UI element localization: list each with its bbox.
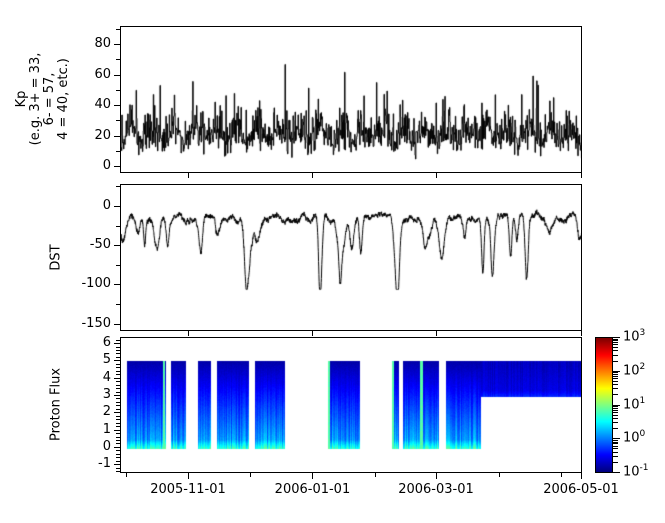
colorbar-tick-minor (613, 442, 618, 443)
colorbar-tick-minor (613, 418, 618, 419)
colorbar-tick-minor (613, 378, 618, 379)
ytick-minor (116, 388, 121, 389)
ytick-major (114, 343, 121, 344)
ytick-major (114, 360, 121, 361)
ytick-minor (116, 426, 121, 427)
ytick-minor (116, 392, 121, 393)
ytick-minor (116, 471, 121, 472)
colorbar-tick-minor (613, 428, 618, 429)
xtick-major (188, 172, 189, 178)
ytick-minor (116, 405, 121, 406)
jet-log-colorbar (595, 337, 613, 473)
ytick-minor (116, 416, 121, 417)
ytick-major (114, 284, 121, 285)
colorbar-tick-minor (613, 452, 618, 453)
xtick-minor (126, 472, 127, 477)
ytick-minor (116, 443, 121, 444)
ytick-minor (116, 450, 121, 451)
proton-flux-spectrogram-canvas (121, 338, 582, 473)
xtick-major (581, 472, 582, 479)
ytick-minor (116, 381, 121, 382)
xtick-major (188, 472, 189, 479)
colorbar-tick-minor (613, 443, 618, 444)
colorbar-tick-minor (613, 347, 618, 348)
colorbar-tick-minor (613, 410, 618, 411)
colorbar-tick-minor (613, 422, 618, 423)
colorbar-exponent: 0 (640, 429, 646, 439)
colorbar-tick-label: 100 (623, 429, 645, 445)
xtick-major (312, 330, 313, 336)
xtick-major (436, 472, 437, 479)
xtick-label: 2006-03-01 (376, 482, 496, 497)
dst-series-canvas (121, 185, 582, 331)
colorbar-tick-label: 103 (623, 328, 645, 344)
ytick-minor (116, 440, 121, 441)
ylabel-kp: Kp (e.g. 3+ = 33, 6- = 57, 4 = 40, etc.) (15, 14, 75, 184)
xtick-minor (561, 472, 562, 477)
ytick-minor (116, 457, 121, 458)
colorbar-tick-minor (613, 448, 618, 449)
colorbar-mantissa: 10 (623, 329, 640, 344)
ytick-minor (116, 468, 121, 469)
ytick-major (114, 412, 121, 413)
colorbar-tick-minor (613, 339, 618, 340)
ytick-major (114, 464, 121, 465)
xtick-major (436, 172, 437, 178)
colorbar-exponent: 1 (640, 396, 646, 406)
colorbar-tick-minor (613, 388, 618, 389)
ytick-minor (116, 340, 121, 341)
colorbar-mantissa: 10 (623, 363, 640, 378)
ytick-minor (116, 186, 121, 187)
colorbar-tick-minor (613, 372, 618, 373)
colorbar-tick-minor (613, 446, 618, 447)
colorbar-tick-minor (613, 406, 618, 407)
colorbar-gradient (596, 338, 612, 472)
ytick-minor (116, 398, 121, 399)
ytick-minor (116, 409, 121, 410)
colorbar-mantissa: 10 (623, 464, 640, 479)
colorbar-tick-minor (613, 361, 618, 362)
colorbar-tick-label: 10-1 (623, 463, 649, 479)
plot-panel-proton-flux (120, 337, 582, 473)
ytick-minor (116, 437, 121, 438)
colorbar-exponent: -1 (640, 463, 649, 473)
ytick-major (114, 245, 121, 246)
colorbar-tick-minor (613, 340, 618, 341)
colorbar-tick-minor (613, 394, 618, 395)
ytick-minor (116, 364, 121, 365)
ytick-minor (116, 433, 121, 434)
colorbar-tick-minor (613, 384, 618, 385)
colorbar-tick-minor (613, 376, 618, 377)
xtick-major (188, 330, 189, 336)
xtick-major (312, 472, 313, 479)
figure-root: 020406080Kp (e.g. 3+ = 33, 6- = 57, 4 = … (0, 0, 665, 523)
ytick-minor (116, 461, 121, 462)
colorbar-tick-minor (613, 350, 618, 351)
colorbar-tick-minor (613, 374, 618, 375)
ytick-major (114, 324, 121, 325)
ytick-minor (116, 353, 121, 354)
ytick-major (114, 105, 121, 106)
xtick-minor (499, 472, 500, 477)
colorbar-tick-minor (613, 342, 618, 343)
colorbar-mantissa: 10 (623, 397, 640, 412)
colorbar-tick-minor (613, 381, 618, 382)
ytick-minor (116, 454, 121, 455)
ytick-minor (116, 59, 121, 60)
xtick-minor (375, 472, 376, 477)
ytick-minor (116, 402, 121, 403)
ytick-minor (116, 357, 121, 358)
colorbar-tick-minor (613, 355, 618, 356)
colorbar-tick-minor (613, 440, 618, 441)
ytick-major (114, 44, 121, 45)
colorbar-tick-minor (613, 415, 618, 416)
ylabel-proton-flux: Proton Flux (50, 320, 65, 490)
ytick-major (114, 206, 121, 207)
ytick-minor (116, 151, 121, 152)
xtick-major (436, 330, 437, 336)
ytick-major (114, 430, 121, 431)
ytick-minor (116, 419, 121, 420)
ytick-minor (116, 350, 121, 351)
colorbar-tick-minor (613, 462, 618, 463)
ytick-minor (116, 265, 121, 266)
ylabel-dst: DST (50, 172, 65, 342)
colorbar-tick-label: 102 (623, 362, 645, 378)
ytick-major (114, 136, 121, 137)
ytick-major (114, 166, 121, 167)
colorbar-tick-minor (613, 344, 618, 345)
colorbar-mantissa: 10 (623, 431, 640, 446)
xtick-minor (250, 472, 251, 477)
plot-panel-kp (120, 26, 582, 173)
kp-series-canvas (121, 27, 582, 173)
colorbar-tick-minor (613, 412, 618, 413)
xtick-major (312, 172, 313, 178)
xtick-label: 2006-05-01 (521, 482, 641, 497)
xtick-label: 2005-11-01 (128, 482, 248, 497)
ytick-major (114, 75, 121, 76)
ytick-major (114, 447, 121, 448)
ytick-major (114, 378, 121, 379)
ytick-minor (116, 226, 121, 227)
ytick-minor (116, 304, 121, 305)
colorbar-tick-minor (613, 408, 618, 409)
ytick-minor (116, 29, 121, 30)
colorbar-exponent: 2 (640, 362, 646, 372)
ytick-major (114, 395, 121, 396)
ytick-minor (116, 423, 121, 424)
colorbar-tick-major (613, 472, 620, 473)
ytick-minor (116, 120, 121, 121)
xtick-label: 2006-01-01 (252, 482, 372, 497)
ytick-minor (116, 374, 121, 375)
plot-panel-dst (120, 184, 582, 331)
xtick-major (581, 172, 582, 178)
ytick-minor (116, 347, 121, 348)
colorbar-exponent: 3 (640, 328, 646, 338)
colorbar-tick-minor (613, 456, 618, 457)
ytick-minor (116, 90, 121, 91)
ytick-minor (116, 367, 121, 368)
xtick-major (581, 330, 582, 336)
ytick-minor (116, 385, 121, 386)
colorbar-tick-label: 101 (623, 396, 645, 412)
ytick-minor (116, 371, 121, 372)
